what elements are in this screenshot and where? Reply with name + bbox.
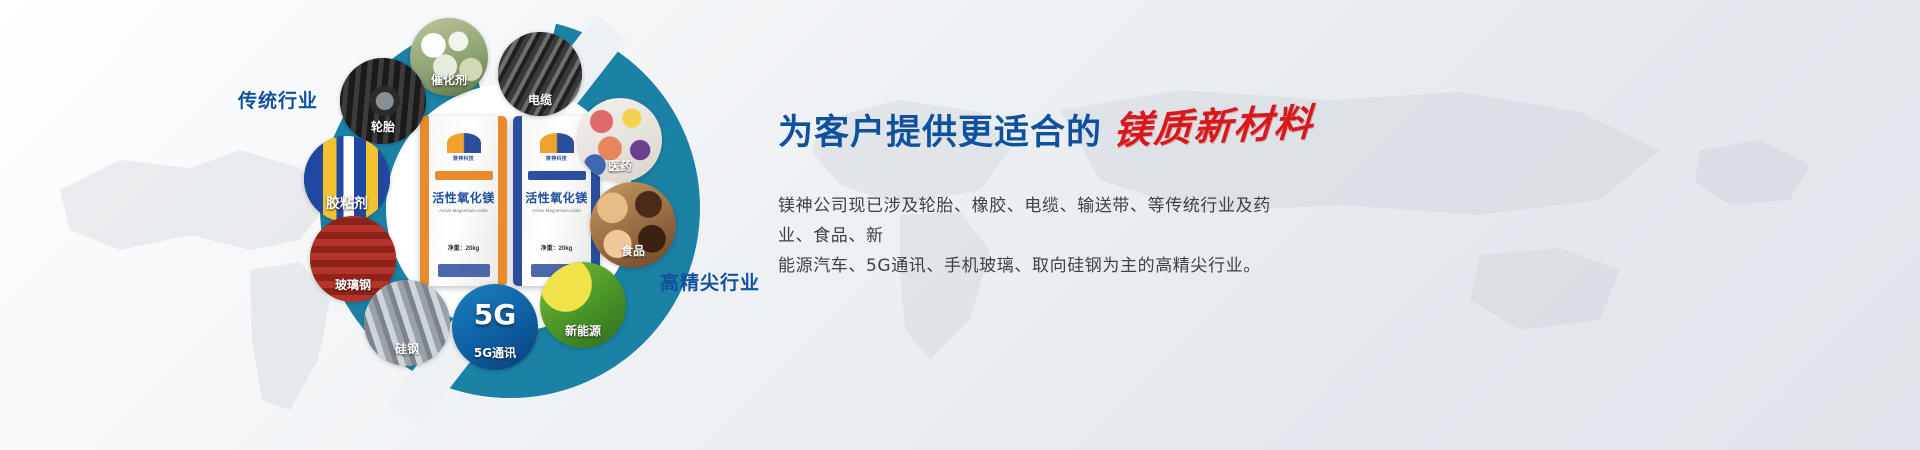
headline: 为客户提供更适合的 镁质新材料: [778, 100, 1518, 155]
bag-footer-band: [438, 264, 490, 277]
product-brand: 镁神科技: [453, 155, 474, 162]
5g-glyph-icon: 5G: [452, 298, 538, 331]
bubble-label: 5G通讯: [452, 344, 538, 361]
label-traditional-industries: 传统行业: [238, 86, 318, 113]
bag-stripe: [435, 171, 493, 180]
product-subtitle: Active Magnesium oxide: [439, 208, 488, 213]
bubble-silicon-steel[interactable]: 硅钢: [364, 280, 450, 366]
paragraph-line-1: 镁神公司现已涉及轮胎、橡胶、电缆、输送带、等传统行业及药业、食品、新: [778, 191, 1278, 251]
bubble-label: 轮胎: [340, 118, 426, 135]
bubble-label: 新能源: [540, 322, 626, 339]
bubble-adhesive[interactable]: 胶粘剂: [304, 136, 390, 222]
copy-block: 为客户提供更适合的 镁质新材料 镁神公司现已涉及轮胎、橡胶、电缆、输送带、等传统…: [778, 100, 1518, 281]
product-brand: 镁神科技: [546, 155, 567, 162]
industry-circle-diagram: 镁神科技 活性氧化镁 Active Magnesium oxide 净重：20k…: [300, 8, 720, 428]
bubble-cable[interactable]: 电缆: [498, 32, 582, 116]
headline-blue-text: 为客户提供更适合的: [778, 104, 1102, 155]
brand-logo-icon: [540, 133, 574, 153]
bubble-food[interactable]: 食品: [590, 182, 676, 268]
product-bag-1: 镁神科技 活性氧化镁 Active Magnesium oxide 净重：20k…: [420, 116, 507, 286]
bubble-medicine[interactable]: 医药: [578, 98, 662, 182]
product-title: 活性氧化镁: [432, 189, 495, 206]
paragraph-line-2: 能源汽车、5G通讯、手机玻璃、取向硅钢为主的高精尖行业。: [778, 251, 1278, 281]
bubble-label: 食品: [590, 242, 676, 259]
bubble-tire[interactable]: 轮胎: [340, 58, 426, 144]
brand-logo-icon: [447, 133, 481, 153]
headline-red-text: 镁质新材料: [1112, 91, 1316, 155]
bubble-new-energy[interactable]: 新能源: [540, 262, 626, 348]
hero-banner: 镁神科技 活性氧化镁 Active Magnesium oxide 净重：20k…: [0, 0, 1920, 450]
bubble-telecom-5g[interactable]: 5G 5G通讯: [452, 284, 538, 370]
product-net-weight: 净重：20kg: [448, 243, 480, 252]
product-title: 活性氧化镁: [525, 189, 588, 206]
description-paragraph: 镁神公司现已涉及轮胎、橡胶、电缆、输送带、等传统行业及药业、食品、新 能源汽车、…: [778, 191, 1278, 281]
bubble-label: 硅钢: [364, 340, 450, 357]
bubble-label: 医药: [578, 157, 662, 174]
label-advanced-industries: 高精尖行业: [660, 268, 760, 295]
bubble-label: 胶粘剂: [304, 193, 390, 213]
bag-stripe: [528, 171, 586, 180]
bubble-label: 电缆: [498, 91, 582, 108]
product-subtitle: Active Magnesium oxide: [532, 208, 581, 213]
product-net-weight: 净重：20kg: [541, 243, 573, 252]
